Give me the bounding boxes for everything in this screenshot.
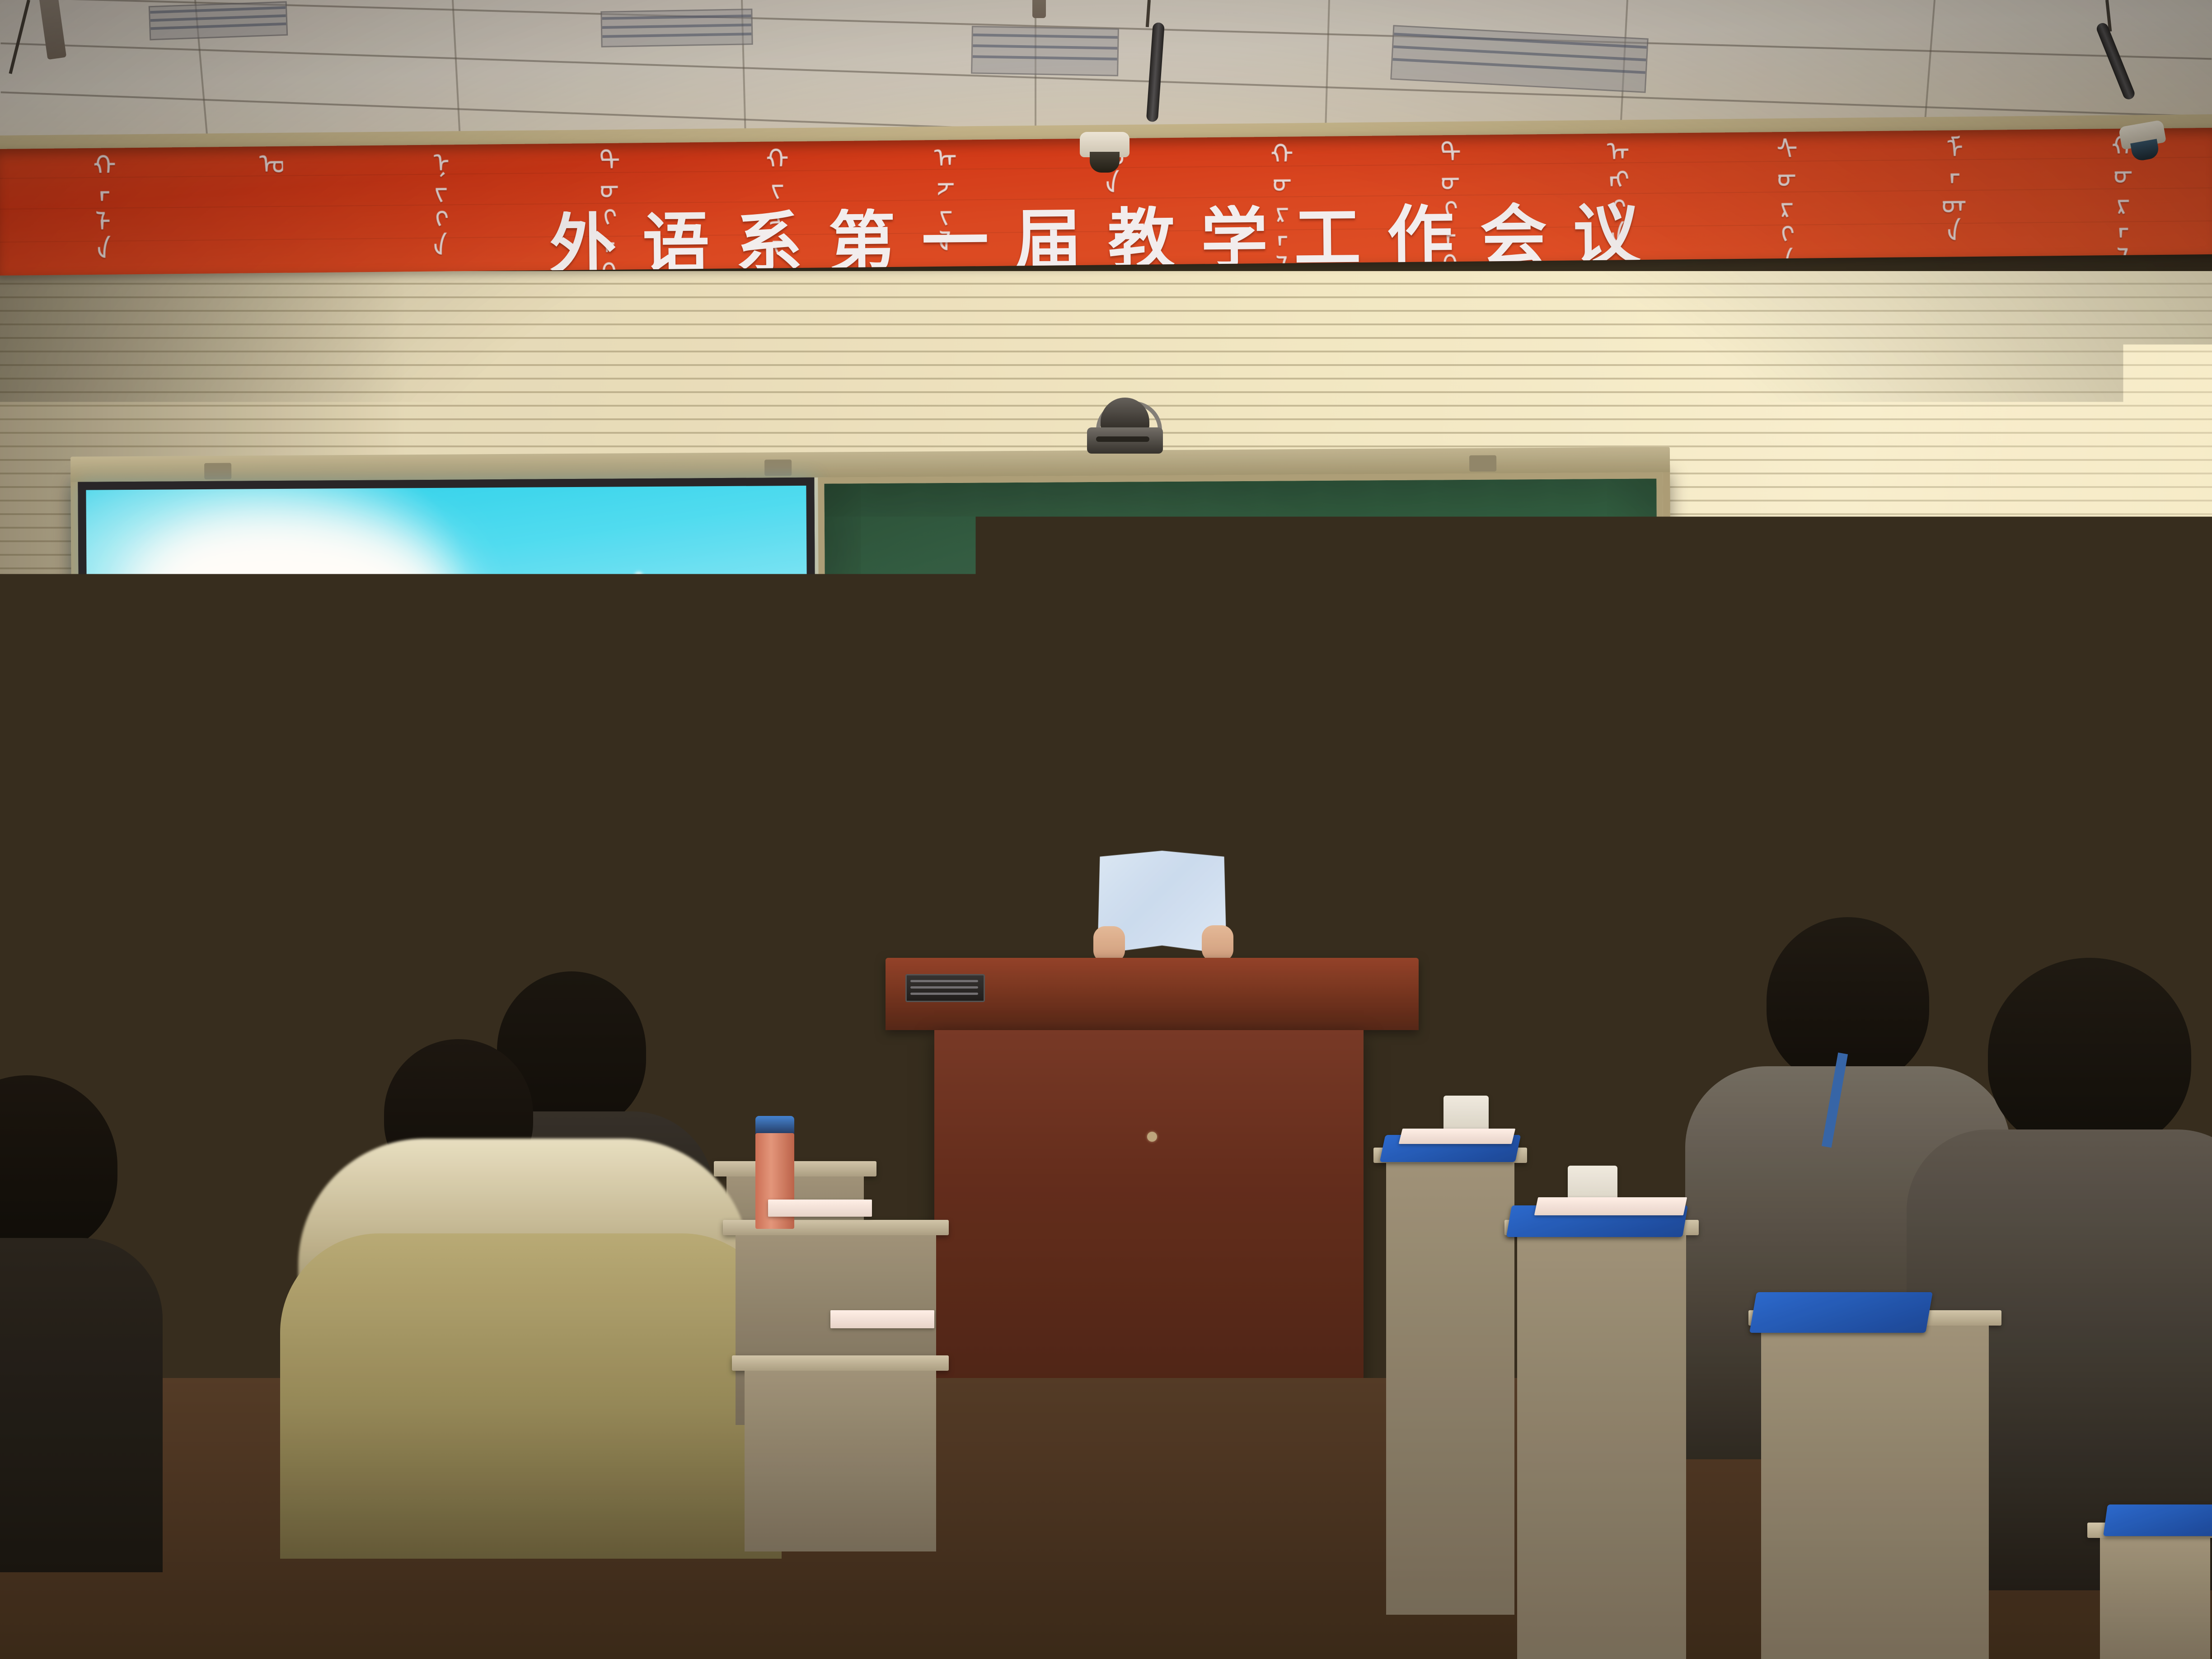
mongolian-glyph: ᠤ <box>252 149 280 178</box>
toolbox-icon <box>759 675 787 699</box>
attendee-blue <box>0 1261 524 1659</box>
desktop-icon[interactable]: 课件资源 <box>98 839 157 909</box>
attendee-blue-jacket <box>0 1410 524 1659</box>
sidebar-tool-label: 批注 <box>767 841 781 851</box>
desktop-icon[interactable]: 我的电脑 <box>97 621 156 691</box>
network-icon <box>110 694 143 723</box>
desktop-icon-label: 我的文档 <box>170 653 227 661</box>
sidebar-tool-label: 资源库 <box>763 747 783 757</box>
desk-front-panel <box>1386 1163 1514 1615</box>
sidebar-tool-label: 教学资源 <box>760 794 787 804</box>
sidebar-tool[interactable]: 批注 <box>747 815 801 851</box>
sidebar-tool-label: 设置 <box>768 888 781 898</box>
document-stack[interactable] <box>1399 1129 1515 1144</box>
desktop-icon-label: 网上邻居 <box>98 726 155 735</box>
desk-front-panel <box>1761 1326 1989 1659</box>
desktop-icon-label: Internet <box>99 799 155 807</box>
desktop-icon[interactable]: 回收站 <box>169 693 229 764</box>
desktop-icon-label: 电子白板 <box>172 871 228 880</box>
desk-front-panel <box>1517 1235 1686 1659</box>
resources-icon <box>759 769 787 793</box>
desktop-icon[interactable]: Internet <box>98 766 157 837</box>
blue-folder-bag[interactable] <box>2103 1504 2212 1536</box>
app-icon <box>183 766 216 796</box>
computer-icon <box>109 621 143 651</box>
desk-right-row-1 <box>1373 1148 1527 1599</box>
ceiling-air-vent <box>149 1 288 41</box>
blue-folder-bag[interactable] <box>1749 1292 1933 1333</box>
presenter-hand-left <box>1093 926 1125 962</box>
sidebar-tool[interactable]: 教学资源 <box>746 769 801 804</box>
board-mount-bracket <box>204 463 231 479</box>
desktop-icon-label: 课件资源 <box>99 872 156 880</box>
whiteboard-icon <box>759 581 787 605</box>
gear-icon <box>760 862 788 887</box>
sidebar-tool-label: 白板 <box>766 606 779 616</box>
presenter-hand-right <box>1202 925 1233 961</box>
attendee-head <box>0 1075 117 1256</box>
desk-front-panel <box>745 1371 936 1551</box>
annotate-icon <box>760 815 788 840</box>
desk-right-row-2 <box>1504 1220 1699 1654</box>
ptz-conference-camera <box>1084 398 1166 456</box>
folder-icon <box>182 620 215 650</box>
desktop-icon-label: 回收站 <box>171 726 227 734</box>
desk-right-row-4 <box>2087 1523 2212 1659</box>
folder-icon <box>111 839 144 869</box>
sidebar-tool-label: 画图 <box>766 653 780 663</box>
desk-top <box>732 1355 949 1371</box>
presenter-mouth <box>1141 771 1167 784</box>
sidebar-tool-label: 工具箱 <box>763 700 783 710</box>
document-stack[interactable] <box>830 1310 934 1328</box>
surveillance-camera-right <box>2118 120 2169 166</box>
attendee-head <box>1767 917 1929 1084</box>
board-mount-bracket <box>1469 455 1496 472</box>
document-stack[interactable] <box>768 1200 872 1217</box>
desk-left-row-2 <box>732 1355 949 1536</box>
ceiling-light-fixture <box>1032 0 1046 18</box>
sidebar-tool[interactable]: 白板 <box>745 581 800 616</box>
desk-front-panel <box>2100 1538 2210 1659</box>
desk-right-row-3 <box>1748 1310 2001 1658</box>
ceiling-air-vent <box>600 9 753 47</box>
attendee-head <box>1988 958 2191 1152</box>
screen-specular-spark <box>634 572 644 588</box>
sidebar-tool[interactable]: 设置 <box>747 862 801 898</box>
browser-icon <box>110 766 144 796</box>
sidebar-tool[interactable]: 工具箱 <box>746 675 800 710</box>
desktop-icon-label: 教学软件 <box>171 798 228 807</box>
document-stack[interactable] <box>1534 1197 1687 1215</box>
paint-icon <box>759 628 787 652</box>
thermos-cap <box>755 1116 794 1135</box>
lectern-knob[interactable] <box>1147 1132 1157 1142</box>
presenter-person <box>1030 669 1283 976</box>
desktop-icon[interactable]: 网上邻居 <box>97 694 156 764</box>
ceiling-dome-camera <box>1080 132 1129 175</box>
board-mount-bracket <box>764 459 792 476</box>
ceiling-air-vent <box>971 26 1119 76</box>
desktop-icon[interactable]: 我的文档 <box>169 620 228 691</box>
whiteboard-icon <box>183 839 216 868</box>
desktop-icon-label: 我的电脑 <box>98 653 155 662</box>
attendee-hair-bun <box>154 940 221 1017</box>
desktop-icon[interactable]: 教学软件 <box>170 766 229 836</box>
desktop-icon[interactable]: 电子白板 <box>170 839 230 909</box>
library-icon <box>759 722 787 746</box>
sidebar-tool[interactable]: 资源库 <box>746 722 801 757</box>
classroom-conference-photo: ᠬᠡᠯᠡ ᠤ ᠨᠢᠭᠡ ᠳᠦᠭᠡᠷ ᠬᠢᠴᠢᠶᠡᠯ ᠠᠵᠢᠯ ᠤᠨ ᠬᠤᠷᠠᠯ … <box>0 0 2212 1659</box>
recycle-bin-icon <box>182 693 216 723</box>
sidebar-tool[interactable]: 画图 <box>745 628 800 663</box>
lectern-control-panel[interactable] <box>905 974 985 1002</box>
glasses-icon <box>1111 736 1198 757</box>
